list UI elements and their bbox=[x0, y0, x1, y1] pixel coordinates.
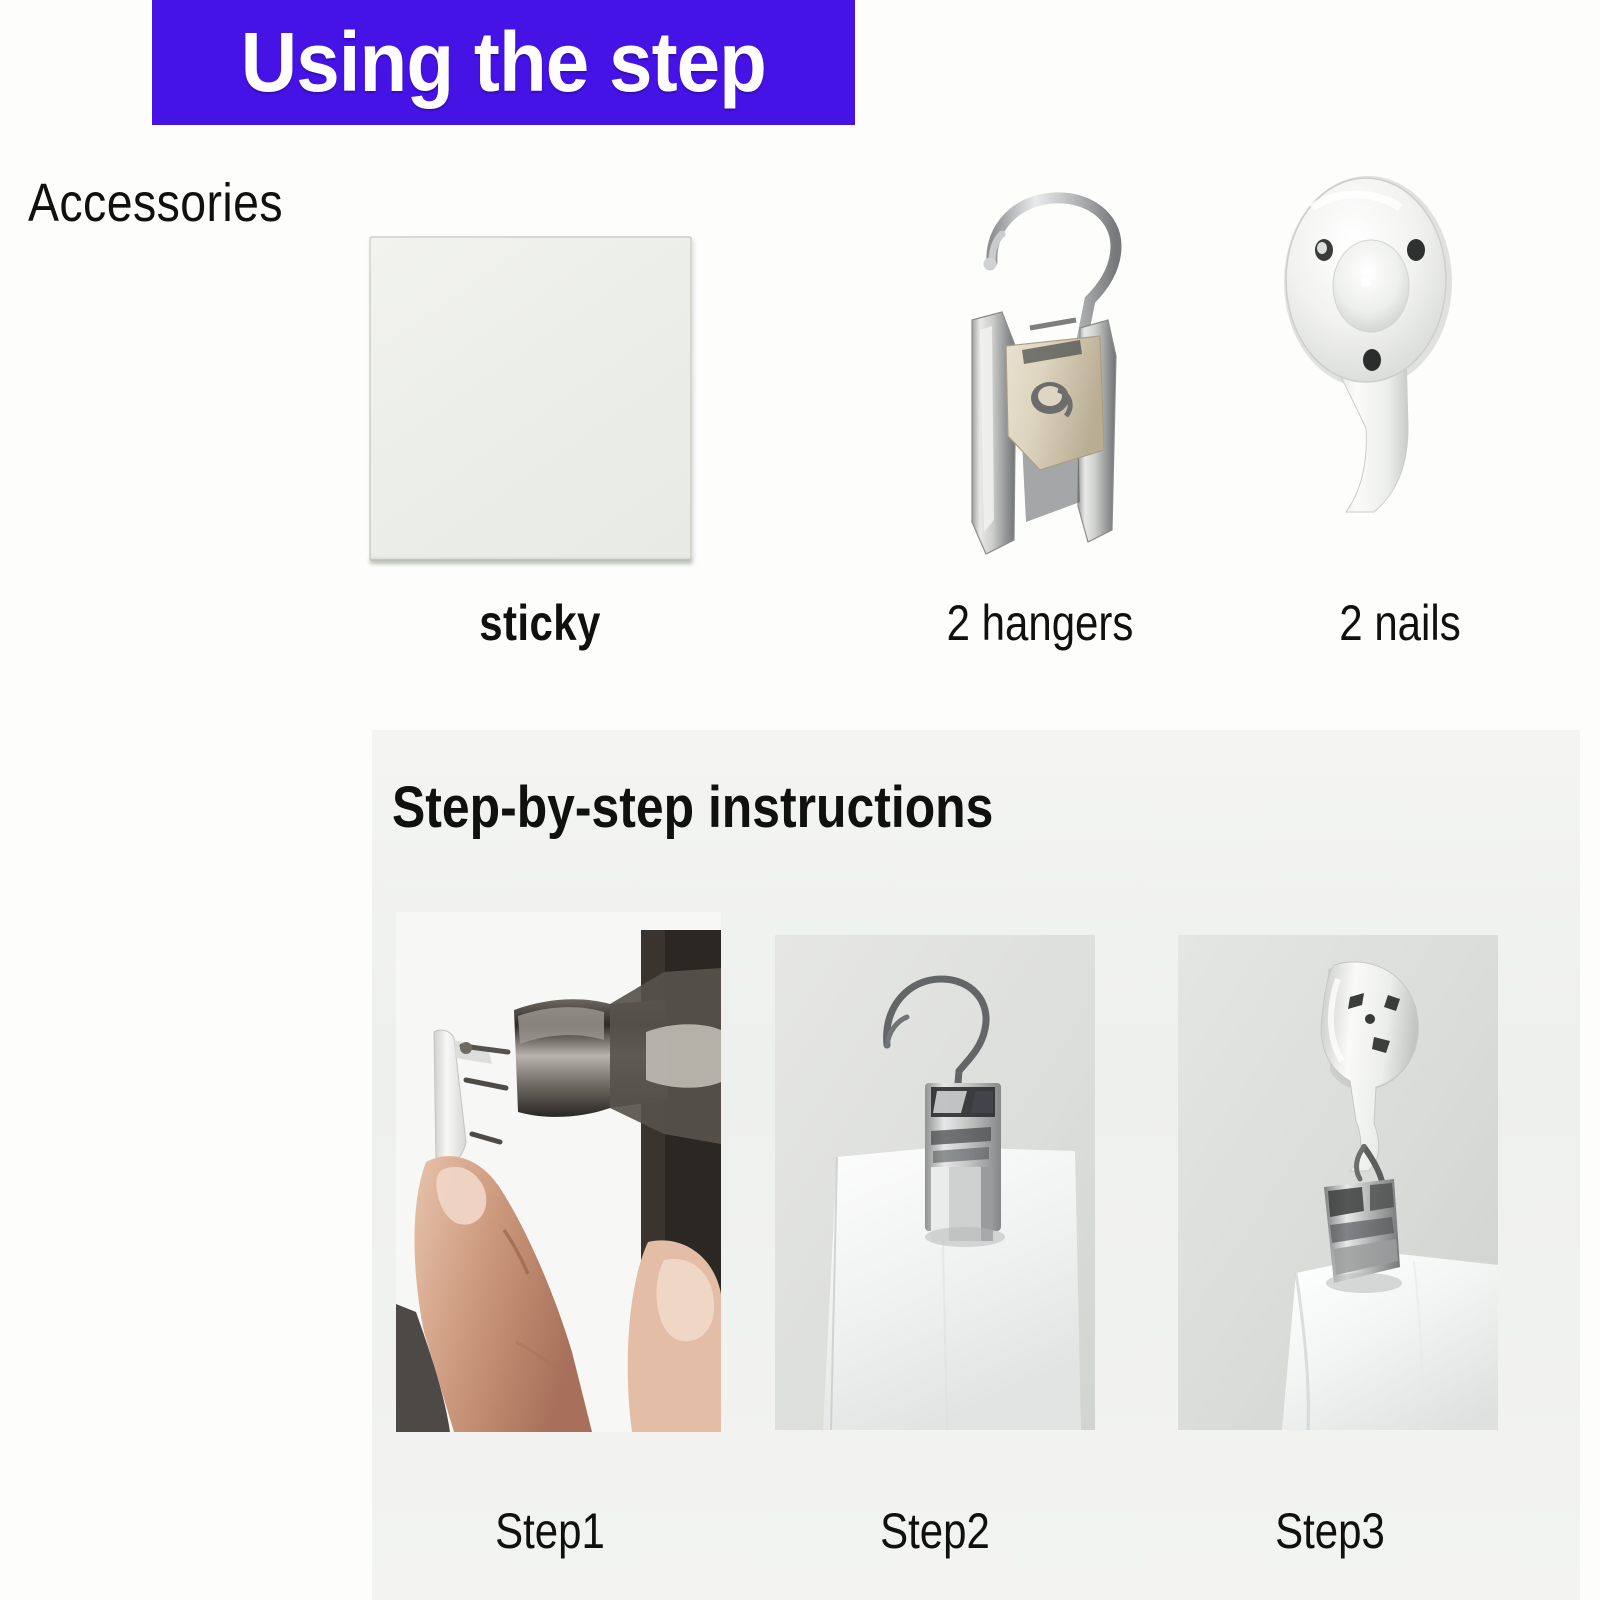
step-caption-3: Step3 bbox=[1191, 1502, 1468, 1560]
white-wall-hook-icon bbox=[1250, 160, 1480, 560]
infographic-page: Using the step Accessories bbox=[0, 0, 1600, 1600]
step-caption-1: Step1 bbox=[411, 1502, 688, 1560]
step-1-photo bbox=[396, 912, 721, 1432]
instructions-section-label: Step-by-step instructions bbox=[392, 774, 993, 841]
accessory-caption-sticky: sticky bbox=[364, 594, 717, 652]
accessory-caption-hangers: 2 hangers bbox=[864, 594, 1217, 652]
page-title: Using the step bbox=[241, 14, 766, 104]
sticky-pad-icon bbox=[369, 236, 692, 561]
step-3-photo bbox=[1178, 935, 1498, 1430]
title-banner: Using the step bbox=[152, 0, 855, 125]
step-2-photo bbox=[775, 935, 1095, 1430]
accessory-caption-nails: 2 nails bbox=[1224, 594, 1577, 652]
step-caption-2: Step2 bbox=[796, 1502, 1073, 1560]
clip-hanger-hook-icon bbox=[930, 150, 1160, 570]
accessories-section-label: Accessories bbox=[28, 172, 283, 234]
